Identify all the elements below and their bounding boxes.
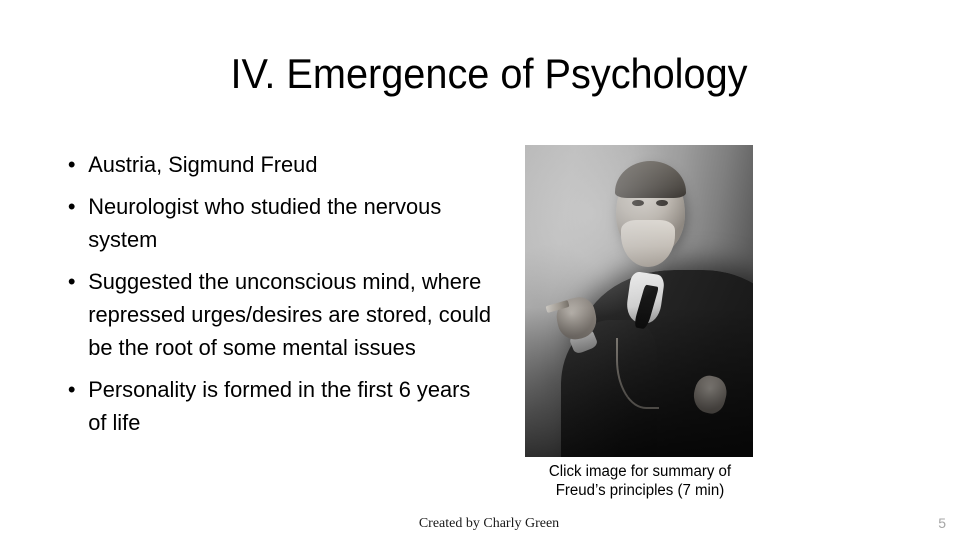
list-item: • Suggested the unconscious mind, where … (62, 265, 494, 364)
page-title: IV. Emergence of Psychology (27, 48, 951, 100)
photo-vignette (525, 145, 753, 457)
bullet-icon: • (68, 373, 76, 406)
list-item-text: Neurologist who studied the nervous syst… (88, 194, 441, 252)
portrait-photo-canvas (525, 145, 753, 457)
list-item-text: Suggested the unconscious mind, where re… (88, 269, 491, 360)
bullet-icon: • (68, 265, 76, 298)
slide-number: 5 (938, 514, 946, 532)
image-caption-line-2: Freud’s principles (7 min) (519, 481, 762, 500)
footer-credit: Created by Charly Green (0, 515, 978, 533)
bullet-icon: • (68, 148, 76, 181)
bullet-list: • Austria, Sigmund Freud • Neurologist w… (62, 148, 507, 439)
presentation-slide: IV. Emergence of Psychology • Austria, S… (0, 0, 978, 550)
list-item: • Austria, Sigmund Freud (62, 148, 494, 181)
bullet-icon: • (68, 190, 76, 223)
image-caption-line-1: Click image for summary of (519, 462, 762, 481)
freud-portrait-image[interactable] (525, 145, 753, 457)
list-item: • Personality is formed in the first 6 y… (62, 373, 494, 439)
list-item: • Neurologist who studied the nervous sy… (62, 190, 494, 256)
image-caption: Click image for summary of Freud’s princ… (519, 462, 762, 500)
list-item-text: Personality is formed in the first 6 yea… (88, 377, 470, 435)
list-item-text: Austria, Sigmund Freud (88, 152, 317, 177)
